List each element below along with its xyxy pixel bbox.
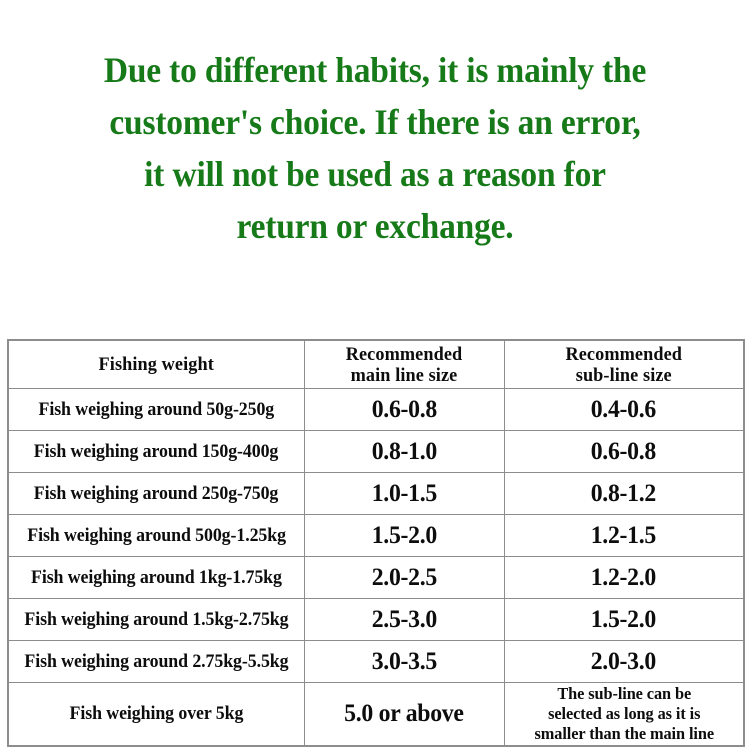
- line-size-table: Fishing weight Recommended main line siz…: [7, 339, 745, 747]
- header-main-line-size-line-2: main line size: [312, 365, 495, 386]
- cell-sub-line-size-text: 2.0-3.0: [591, 648, 656, 676]
- cell-sub-line-size: 0.6-0.8: [504, 431, 744, 473]
- product-info-page: Due to different habits, it is mainly th…: [0, 0, 750, 750]
- cell-fishing-weight: Fish weighing over 5kg: [8, 683, 304, 747]
- cell-sub-line-size-text: 0.6-0.8: [591, 438, 656, 466]
- cell-sub-line-size-text: 1.2-2.0: [591, 564, 656, 592]
- notice-line-3: it will not be used as a reason for: [26, 148, 724, 200]
- table-row: Fish weighing around 1.5kg-2.75kg 2.5-3.…: [8, 599, 744, 641]
- cell-fishing-weight: Fish weighing around 1.5kg-2.75kg: [8, 599, 304, 641]
- table-row: Fish weighing around 2.75kg-5.5kg 3.0-3.…: [8, 641, 744, 683]
- cell-main-line-size-text: 2.0-2.5: [371, 564, 436, 592]
- cell-fishing-weight-text: Fish weighing around 1kg-1.75kg: [31, 567, 282, 589]
- cell-main-line-size: 0.8-1.0: [304, 431, 504, 473]
- header-main-line-size: Recommended main line size: [308, 340, 500, 389]
- header-fishing-weight-line-1: Fishing weight: [19, 354, 294, 375]
- cell-fishing-weight: Fish weighing around 50g-250g: [8, 389, 304, 431]
- cell-sub-line-size-text: 1.5-2.0: [591, 606, 656, 634]
- cell-main-line-size: 1.5-2.0: [304, 515, 504, 557]
- cell-sub-line-size: 1.2-1.5: [504, 515, 744, 557]
- cell-main-line-size-text: 2.5-3.0: [371, 606, 436, 634]
- cell-main-line-size: 3.0-3.5: [304, 641, 504, 683]
- cell-main-line-size-text: 1.5-2.0: [371, 522, 436, 550]
- cell-sub-line-size-text: 0.8-1.2: [591, 480, 656, 508]
- table-row-last: Fish weighing over 5kg 5.0 or above The …: [8, 683, 744, 747]
- notice-line-4: return or exchange.: [26, 200, 724, 252]
- header-sub-line-size-line-1: Recommended: [513, 344, 734, 365]
- cell-fishing-weight: Fish weighing around 1kg-1.75kg: [8, 557, 304, 599]
- table-row: Fish weighing around 500g-1.25kg 1.5-2.0…: [8, 515, 744, 557]
- cell-fishing-weight-text: Fish weighing around 250g-750g: [34, 483, 278, 505]
- cell-sub-line-note-line-1: The sub-line can be: [513, 684, 734, 704]
- cell-fishing-weight-text: Fish weighing around 50g-250g: [38, 399, 274, 421]
- cell-sub-line-size: 2.0-3.0: [504, 641, 744, 683]
- cell-sub-line-size: 1.5-2.0: [504, 599, 744, 641]
- cell-fishing-weight-text: Fish weighing around 150g-400g: [34, 441, 278, 463]
- cell-main-line-size-text: 0.8-1.0: [371, 438, 436, 466]
- cell-main-line-size: 1.0-1.5: [304, 473, 504, 515]
- table-row: Fish weighing around 250g-750g 1.0-1.5 0…: [8, 473, 744, 515]
- cell-fishing-weight: Fish weighing around 500g-1.25kg: [8, 515, 304, 557]
- cell-main-line-size-text: 1.0-1.5: [371, 480, 436, 508]
- cell-main-line-size-text: 5.0 or above: [344, 700, 464, 728]
- cell-sub-line-size: 1.2-2.0: [504, 557, 744, 599]
- table-row: Fish weighing around 150g-400g 0.8-1.0 0…: [8, 431, 744, 473]
- cell-sub-line-size: 0.4-0.6: [504, 389, 744, 431]
- cell-fishing-weight-text: Fish weighing around 1.5kg-2.75kg: [24, 609, 288, 631]
- table-row: Fish weighing around 50g-250g 0.6-0.8 0.…: [8, 389, 744, 431]
- cell-fishing-weight-text: Fish weighing over 5kg: [69, 703, 243, 725]
- notice-line-2: customer's choice. If there is an error,: [26, 96, 724, 148]
- cell-sub-line-note-line-3: smaller than the main line: [513, 724, 734, 744]
- cell-main-line-size: 2.0-2.5: [304, 557, 504, 599]
- disclaimer-notice: Due to different habits, it is mainly th…: [26, 44, 724, 252]
- cell-sub-line-note-line-2: selected as long as it is: [513, 704, 734, 724]
- cell-main-line-size: 2.5-3.0: [304, 599, 504, 641]
- header-main-line-size-line-1: Recommended: [312, 344, 495, 365]
- header-sub-line-size-line-2: sub-line size: [513, 365, 734, 386]
- table-row: Fish weighing around 1kg-1.75kg 2.0-2.5 …: [8, 557, 744, 599]
- line-size-table-container: Fishing weight Recommended main line siz…: [7, 339, 743, 747]
- cell-fishing-weight: Fish weighing around 2.75kg-5.5kg: [8, 641, 304, 683]
- cell-main-line-size: 0.6-0.8: [304, 389, 504, 431]
- cell-sub-line-size-text: 0.4-0.6: [591, 396, 656, 424]
- notice-line-1: Due to different habits, it is mainly th…: [26, 44, 724, 96]
- table-header-row: Fishing weight Recommended main line siz…: [8, 340, 744, 389]
- cell-main-line-size-text: 0.6-0.8: [371, 396, 436, 424]
- cell-fishing-weight: Fish weighing around 150g-400g: [8, 431, 304, 473]
- cell-sub-line-size: 0.8-1.2: [504, 473, 744, 515]
- cell-sub-line-size-text: 1.2-1.5: [591, 522, 656, 550]
- cell-sub-line-note: The sub-line can be selected as long as …: [504, 683, 744, 747]
- cell-fishing-weight-text: Fish weighing around 500g-1.25kg: [27, 525, 286, 547]
- header-fishing-weight: Fishing weight: [14, 340, 298, 389]
- cell-fishing-weight: Fish weighing around 250g-750g: [8, 473, 304, 515]
- cell-main-line-size: 5.0 or above: [304, 683, 504, 747]
- cell-main-line-size-text: 3.0-3.5: [371, 648, 436, 676]
- header-sub-line-size: Recommended sub-line size: [509, 340, 739, 389]
- cell-fishing-weight-text: Fish weighing around 2.75kg-5.5kg: [24, 651, 288, 673]
